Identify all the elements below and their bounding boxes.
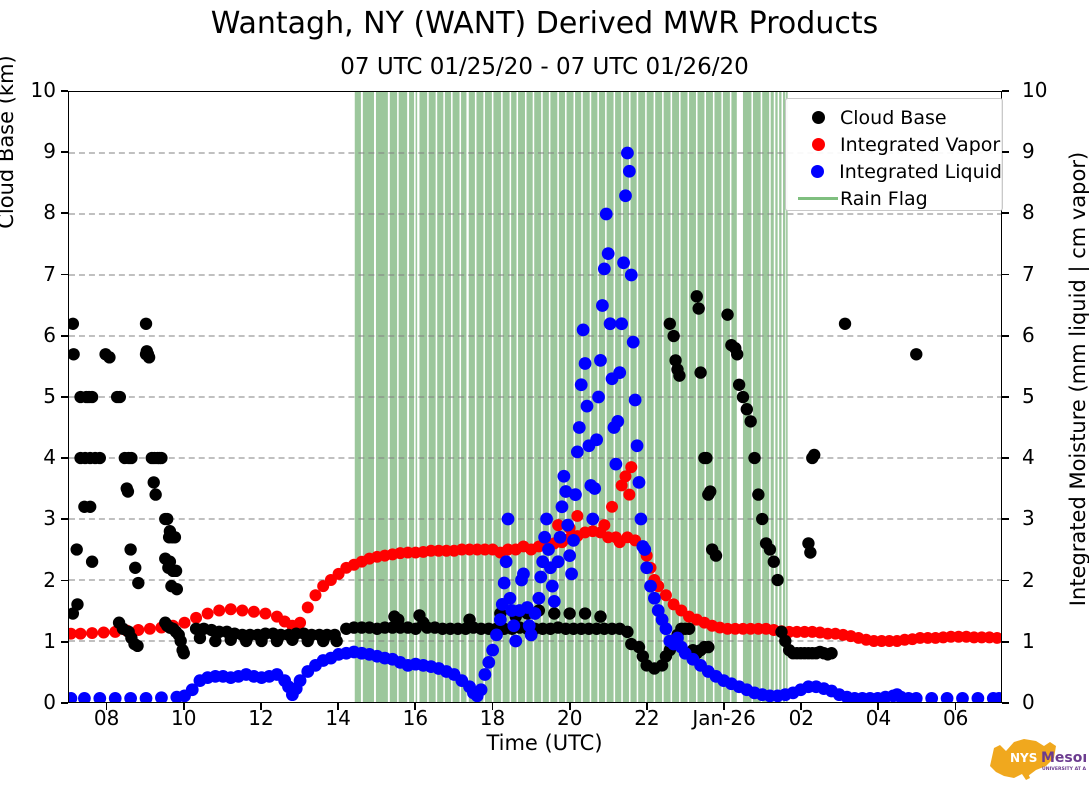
y-tick-right-4: 4 bbox=[1022, 445, 1068, 469]
tick-mark bbox=[1002, 641, 1009, 643]
y-tick-left-9: 9 bbox=[10, 139, 56, 163]
y-tick-left-7: 7 bbox=[10, 262, 56, 286]
legend-label: Integrated Liquid bbox=[839, 161, 1002, 183]
tick-mark bbox=[61, 702, 68, 704]
tick-mark bbox=[61, 518, 68, 520]
chart-legend: Cloud BaseIntegrated VaporIntegrated Liq… bbox=[785, 98, 1003, 211]
tick-mark bbox=[877, 703, 879, 710]
tick-mark bbox=[1002, 518, 1009, 520]
swatch bbox=[812, 138, 825, 151]
tick-mark bbox=[61, 151, 68, 153]
tick-mark bbox=[800, 703, 802, 710]
y-tick-left-10: 10 bbox=[10, 78, 56, 102]
tick-mark bbox=[1002, 212, 1009, 214]
chart-page: Wantagh, NY (WANT) Derived MWR Products … bbox=[0, 0, 1089, 804]
tick-mark bbox=[955, 703, 957, 710]
tick-mark bbox=[1002, 702, 1009, 704]
legend-dot-swatch bbox=[796, 165, 839, 178]
page-subtitle: 07 UTC 01/25/20 - 07 UTC 01/26/20 bbox=[0, 54, 1089, 80]
y-tick-right-10: 10 bbox=[1022, 78, 1068, 102]
tick-mark bbox=[61, 212, 68, 214]
tick-mark bbox=[1002, 274, 1009, 276]
y-tick-right-1: 1 bbox=[1022, 629, 1068, 653]
legend-label: Rain Flag bbox=[840, 188, 928, 210]
tick-mark bbox=[646, 703, 648, 710]
tick-mark bbox=[1002, 396, 1009, 398]
y-tick-left-5: 5 bbox=[10, 384, 56, 408]
tick-mark bbox=[1002, 151, 1009, 153]
y-tick-right-9: 9 bbox=[1022, 139, 1068, 163]
legend-item-integrated-vapor[interactable]: Integrated Vapor bbox=[786, 131, 1002, 158]
tick-mark bbox=[1002, 457, 1009, 459]
legend-label: Integrated Vapor bbox=[840, 134, 1000, 156]
tick-mark bbox=[183, 703, 185, 710]
tick-mark bbox=[260, 703, 262, 710]
y-tick-left-8: 8 bbox=[10, 200, 56, 224]
tick-mark bbox=[492, 703, 494, 710]
page-title: Wantagh, NY (WANT) Derived MWR Products bbox=[0, 6, 1089, 41]
svg-text:UNIVERSITY AT ALBANY: UNIVERSITY AT ALBANY bbox=[1042, 766, 1086, 772]
y-tick-left-0: 0 bbox=[10, 690, 56, 714]
y-tick-left-1: 1 bbox=[10, 629, 56, 653]
y-tick-left-2: 2 bbox=[10, 568, 56, 592]
y-tick-left-6: 6 bbox=[10, 323, 56, 347]
y-axis-right-title: Integrated Moisture (mm liquid | cm vapo… bbox=[1066, 84, 1089, 674]
tick-mark bbox=[61, 396, 68, 398]
y-tick-right-3: 3 bbox=[1022, 506, 1068, 530]
y-tick-right-0: 0 bbox=[1022, 690, 1068, 714]
legend-line-swatch bbox=[796, 197, 840, 200]
svg-text:Mesonet: Mesonet bbox=[1041, 750, 1086, 766]
legend-label: Cloud Base bbox=[840, 107, 947, 129]
swatch bbox=[812, 111, 825, 124]
tick-mark bbox=[569, 703, 571, 710]
nys-mesonet-logo: NYS Mesonet UNIVERSITY AT ALBANY bbox=[984, 732, 1086, 792]
swatch bbox=[811, 165, 824, 178]
legend-item-integrated-liquid[interactable]: Integrated Liquid bbox=[786, 158, 1002, 185]
legend-dot-swatch bbox=[796, 138, 840, 151]
y-tick-left-3: 3 bbox=[10, 506, 56, 530]
y-tick-right-8: 8 bbox=[1022, 200, 1068, 224]
tick-mark bbox=[1002, 90, 1009, 92]
tick-mark bbox=[61, 580, 68, 582]
y-tick-right-6: 6 bbox=[1022, 323, 1068, 347]
tick-mark bbox=[61, 274, 68, 276]
tick-mark bbox=[723, 703, 725, 710]
tick-mark bbox=[61, 90, 68, 92]
y-tick-left-4: 4 bbox=[10, 445, 56, 469]
y-tick-right-2: 2 bbox=[1022, 568, 1068, 592]
tick-mark bbox=[414, 703, 416, 710]
tick-mark bbox=[1002, 335, 1009, 337]
tick-mark bbox=[106, 703, 108, 710]
y-tick-right-5: 5 bbox=[1022, 384, 1068, 408]
y-tick-right-7: 7 bbox=[1022, 262, 1068, 286]
svg-text:NYS: NYS bbox=[1010, 751, 1037, 765]
swatch bbox=[798, 197, 838, 200]
legend-item-cloud-base[interactable]: Cloud Base bbox=[786, 104, 1002, 131]
legend-item-rain-flag[interactable]: Rain Flag bbox=[786, 185, 1002, 212]
tick-mark bbox=[61, 457, 68, 459]
legend-dot-swatch bbox=[796, 111, 840, 124]
tick-mark bbox=[337, 703, 339, 710]
tick-mark bbox=[61, 335, 68, 337]
x-axis-title: Time (UTC) bbox=[0, 731, 1089, 755]
tick-mark bbox=[1002, 580, 1009, 582]
tick-mark bbox=[61, 641, 68, 643]
